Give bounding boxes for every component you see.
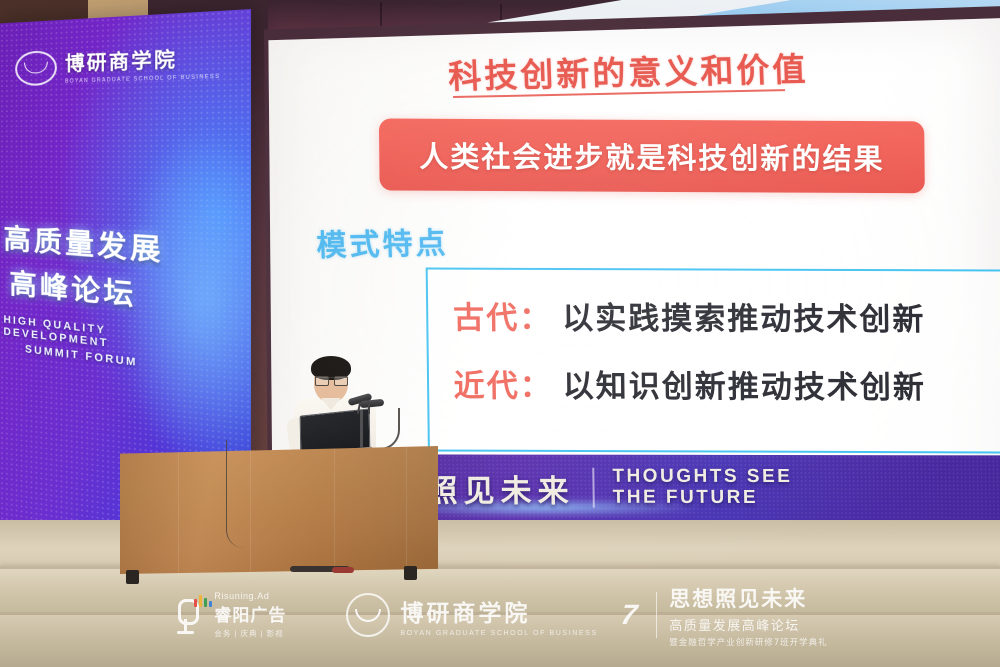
table-cloth: [120, 446, 438, 574]
cloth-fold: [406, 446, 407, 574]
floor-cable: [226, 440, 255, 548]
boyan-seal-icon: [15, 49, 57, 85]
watermark-event: 7 思想照见未来 高质量发展高峰论坛 暨金融哲学产业创新研修7班开学典礼: [598, 583, 828, 648]
slide-footer-banner: 想照见未来 THOUGHTS SEE THE FUTURE: [371, 454, 1000, 521]
microphone-neck: [368, 404, 370, 414]
conference-stage-photo: 博研商学院 BOYAN GRADUATE SCHOOL OF BUSINESS …: [0, 0, 1000, 667]
banner-logo-cn: 博研商学院: [65, 42, 220, 77]
slide-row: 近代： 以知识创新推动技术创新: [453, 360, 926, 407]
glasses-lens-right: [334, 376, 348, 386]
event-mark-icon: 7: [611, 599, 645, 631]
risuning-microphone-icon: [172, 589, 206, 641]
floor-equipment: [332, 567, 354, 573]
event-line3: 暨金融哲学产业创新研修7班开学典礼: [669, 636, 827, 648]
glasses-lens-left: [315, 376, 329, 386]
footer-en-text: THOUGHTS SEE THE FUTURE: [612, 467, 793, 508]
slide-row-era: 近代：: [453, 360, 553, 405]
watermark-risuning: Risuning.Ad 睿阳广告 会务 | 庆典 | 影视: [172, 589, 286, 641]
boyan-seal-icon: [346, 593, 390, 637]
banner-headline: 高质量发展 高峰论坛 HIGH QUALITY DEVELOPMENT SUMM…: [3, 217, 214, 379]
cloth-fold: [178, 446, 179, 574]
risuning-en: Risuning.Ad: [214, 591, 286, 601]
cloth-shading: [120, 446, 438, 574]
color-bars-icon: [194, 595, 212, 607]
slide-highlight-text: 人类社会进步就是科技创新的结果: [419, 134, 885, 178]
slide-row-era: 古代：: [453, 292, 553, 337]
event-line2: 高质量发展高峰论坛: [669, 615, 827, 634]
cloth-fold: [334, 446, 335, 574]
watermark-boyan: 博研商学院 BOYAN GRADUATE SCHOOL OF BUSINESS: [346, 593, 597, 637]
slide-row-body: 以实践摸索推动技术创新: [562, 293, 926, 339]
risuning-cn: 睿阳广告: [214, 601, 286, 626]
microphone-stand: [360, 410, 363, 452]
watermark-divider: [656, 592, 658, 638]
watermark-bar: Risuning.Ad 睿阳广告 会务 | 庆典 | 影视 博研商学院 BOYA…: [0, 578, 1000, 652]
slide-row-body: 以知识创新推动技术创新: [562, 361, 926, 407]
event-line1: 思想照见未来: [669, 583, 827, 613]
boyan-en: BOYAN GRADUATE SCHOOL OF BUSINESS: [400, 630, 597, 637]
boyan-cn: 博研商学院: [400, 594, 597, 628]
slide-section-label: 模式特点: [316, 218, 450, 265]
footer-en-line1: THOUGHTS SEE: [612, 467, 792, 488]
footer-en-line2: THE FUTURE: [613, 488, 793, 509]
slide-row: 古代： 以实践摸索推动技术创新: [453, 292, 926, 339]
slide-highlight-band: 人类社会进步就是科技创新的结果: [379, 118, 925, 193]
risuning-services: 会务 | 庆典 | 影视: [214, 628, 286, 639]
